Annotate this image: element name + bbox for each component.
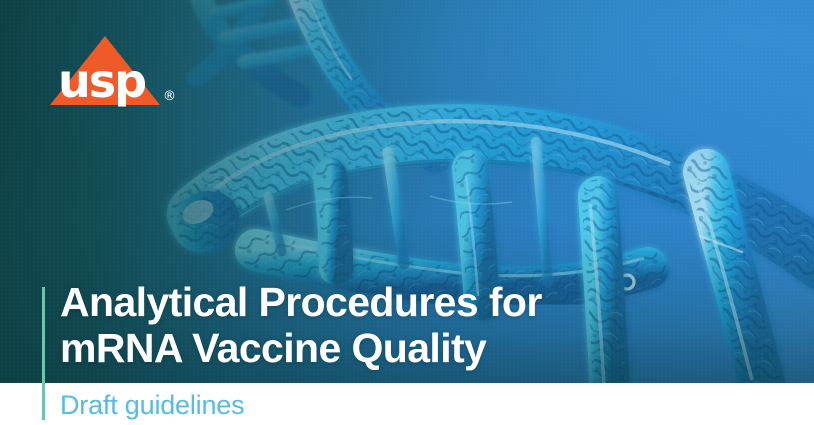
usp-logo[interactable]: usp ®: [44, 30, 184, 114]
svg-text:®: ®: [163, 89, 176, 104]
page-title: Analytical Procedures for mRNA Vaccine Q…: [60, 279, 720, 371]
svg-text:usp: usp: [58, 54, 145, 108]
page-subtitle: Draft guidelines: [60, 390, 244, 420]
usp-logo-mark: usp ®: [44, 30, 184, 114]
hero-banner: usp ® Analytical Procedures for mRNA Vac…: [0, 0, 814, 425]
accent-rule: [42, 287, 45, 420]
